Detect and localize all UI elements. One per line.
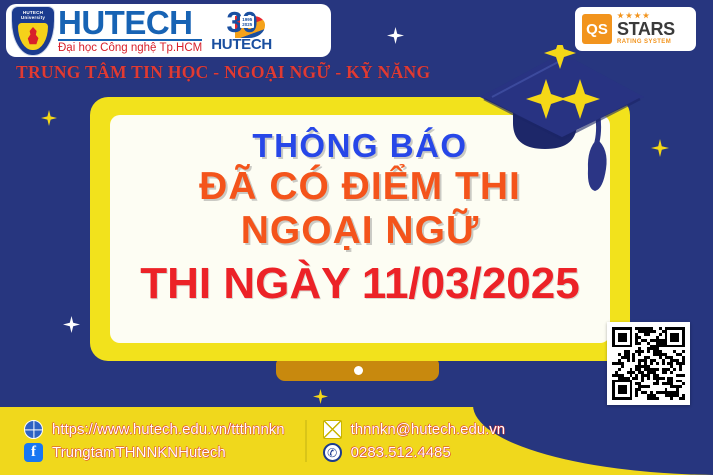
announcement-line-2: NGOẠI NGỮ <box>241 209 480 253</box>
mail-icon <box>323 420 342 439</box>
qs-stars-word: STARS <box>617 20 675 38</box>
footer-facebook-row[interactable]: f TrungtamTHNNKNHutech <box>24 443 285 462</box>
shield-line1: HUTECH <box>23 10 43 15</box>
qs-rating-system-label: RATING SYSTEM <box>617 38 675 46</box>
hutech-logo-bar: HUTECH University HUTECH Đại học Công ng… <box>6 4 331 57</box>
anniversary-years: 19952025 <box>240 16 254 28</box>
anniversary-label: HUTECH <box>211 37 272 52</box>
footer-email-text: thnnkn@hutech.edu.vn <box>351 421 506 438</box>
hutech-shield-icon: HUTECH University <box>12 7 54 55</box>
phone-icon: ✆ <box>323 443 342 462</box>
flame-icon <box>27 27 40 45</box>
footer-web-group: https://www.hutech.edu.vn/ttthnnkn f Tru… <box>24 420 285 462</box>
center-name-banner: TRUNG TÂM TIN HỌC - NGOẠI NGỮ - KỸ NĂNG <box>16 62 430 83</box>
footer-phone-text: 0283.512.4485 <box>351 444 451 461</box>
footer-divider <box>305 420 307 462</box>
qr-code[interactable] <box>607 322 690 405</box>
hutech-wordmark-main: HUTECH <box>58 7 202 38</box>
footer-website-row[interactable]: https://www.hutech.edu.vn/ttthnnkn <box>24 420 285 439</box>
sparkle-star-icon <box>63 316 80 333</box>
sparkle-star-icon <box>387 27 404 44</box>
announcement-title-blue: THÔNG BÁO <box>252 127 467 165</box>
facebook-icon: f <box>24 443 43 462</box>
footer-contact-group: thnnkn@hutech.edu.vn ✆ 0283.512.4485 <box>323 420 506 462</box>
sparkle-star-icon <box>313 389 328 404</box>
anniversary-30-logo: 30 19952025 HUTECH <box>211 10 272 52</box>
globe-icon <box>24 420 43 439</box>
qs-stars-badge: QS STARS RATING SYSTEM <box>575 7 696 51</box>
qr-code-grid <box>612 327 685 400</box>
footer-facebook-text: TrungtamTHNNKNHutech <box>52 444 226 461</box>
footer-phone-row[interactable]: ✆ 0283.512.4485 <box>323 443 506 462</box>
sparkle-star-icon <box>41 110 57 126</box>
footer-email-row[interactable]: thnnkn@hutech.edu.vn <box>323 420 506 439</box>
hutech-wordmark-sub: Đại học Công nghệ Tp.HCM <box>58 39 202 55</box>
power-indicator-dot <box>354 366 363 375</box>
hutech-wordmark: HUTECH Đại học Công nghệ Tp.HCM <box>58 7 202 55</box>
announcement-exam-date: THI NGÀY 11/03/2025 <box>140 259 579 309</box>
qs-square-icon: QS <box>582 14 612 44</box>
footer-contact-bar: https://www.hutech.edu.vn/ttthnnkn f Tru… <box>0 407 713 475</box>
monitor-stand-base <box>276 359 439 381</box>
qs-rating-stars-icon <box>617 12 675 19</box>
graduation-cap-icon <box>470 45 655 205</box>
shield-line2: University <box>21 15 45 20</box>
poster-canvas: HUTECH University HUTECH Đại học Công ng… <box>0 0 713 475</box>
footer-website-text: https://www.hutech.edu.vn/ttthnnkn <box>52 421 285 438</box>
